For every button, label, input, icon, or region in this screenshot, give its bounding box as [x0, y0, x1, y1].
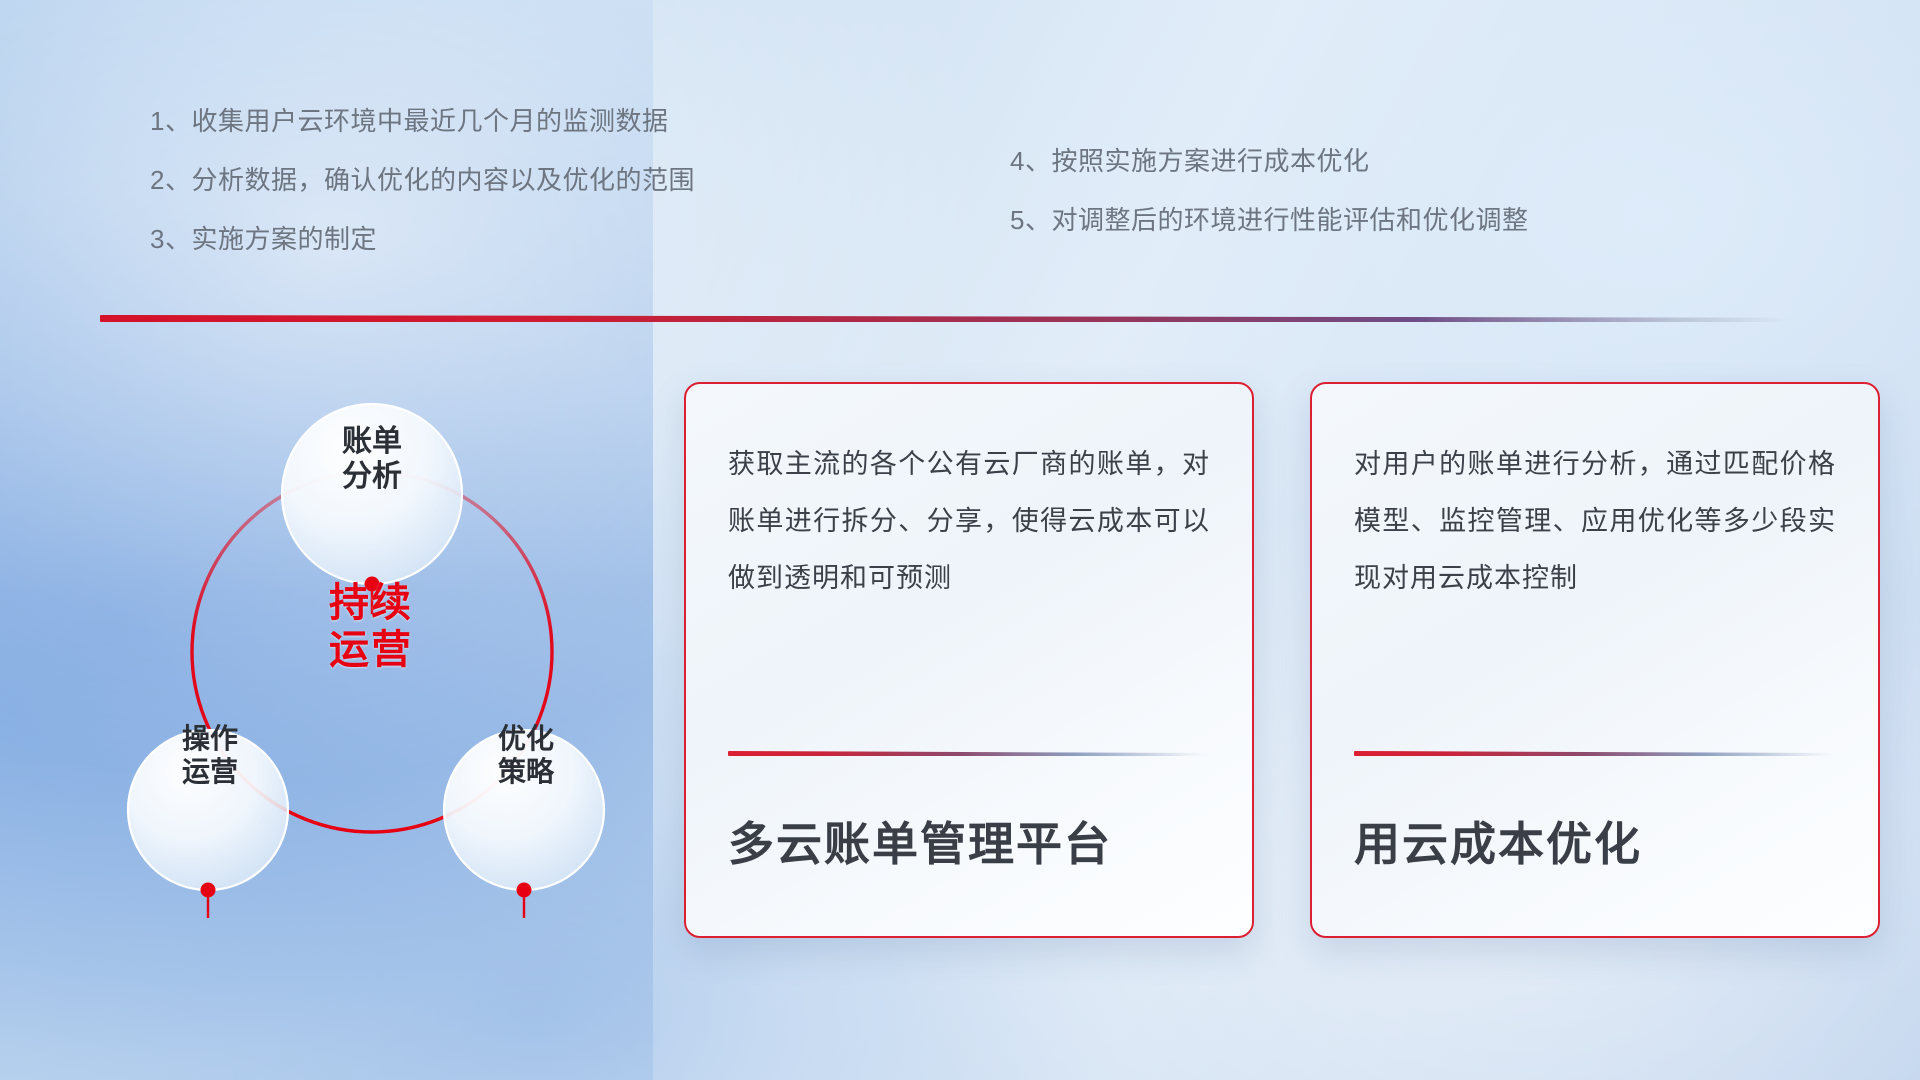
venn-label-bottom-left: 操作 运营 [120, 722, 300, 788]
feature-card-list: 获取主流的各个公有云厂商的账单，对账单进行拆分、分享，使得云成本可以做到透明和可… [684, 382, 1880, 938]
venn-node-bottom-right [517, 883, 532, 898]
process-steps-list: 1、收集用户云环境中最近几个月的监测数据 2、分析数据，确认优化的内容以及优化的… [150, 108, 1800, 285]
continuous-operation-venn-diagram: 账单 分析 操作 运营 优化 策略 持续 运营 [96, 352, 656, 952]
section-divider-bar [100, 315, 1790, 322]
feature-card-title: 用云成本优化 [1354, 756, 1836, 936]
venn-label-bottom-right: 优化 策略 [436, 722, 616, 788]
venn-center-label: 持续 运营 [256, 580, 486, 674]
feature-card-multicloud-billing[interactable]: 获取主流的各个公有云厂商的账单，对账单进行拆分、分享，使得云成本可以做到透明和可… [684, 382, 1254, 938]
feature-card-rule [728, 751, 1210, 756]
process-step-1: 1、收集用户云环境中最近几个月的监测数据 [150, 108, 1010, 134]
process-step-5: 5、对调整后的环境进行性能评估和优化调整 [1010, 207, 1770, 233]
process-steps-right-column: 4、按照实施方案进行成本优化 5、对调整后的环境进行性能评估和优化调整 [1010, 108, 1770, 285]
process-steps-left-column: 1、收集用户云环境中最近几个月的监测数据 2、分析数据，确认优化的内容以及优化的… [150, 108, 1010, 285]
feature-card-title: 多云账单管理平台 [728, 756, 1210, 936]
process-step-3: 3、实施方案的制定 [150, 226, 1010, 252]
feature-card-body: 获取主流的各个公有云厂商的账单，对账单进行拆分、分享，使得云成本可以做到透明和可… [728, 436, 1210, 608]
section-divider [100, 315, 1790, 322]
process-step-4: 4、按照实施方案进行成本优化 [1010, 148, 1770, 174]
feature-card-rule [1354, 751, 1836, 756]
process-step-2: 2、分析数据，确认优化的内容以及优化的范围 [150, 167, 1010, 193]
venn-node-bottom-left [201, 883, 216, 898]
venn-label-top: 账单 分析 [282, 424, 462, 495]
feature-card-body: 对用户的账单进行分析，通过匹配价格模型、监控管理、应用优化等多少段实现对用云成本… [1354, 436, 1836, 608]
feature-card-cloud-cost-optimization[interactable]: 对用户的账单进行分析，通过匹配价格模型、监控管理、应用优化等多少段实现对用云成本… [1310, 382, 1880, 938]
